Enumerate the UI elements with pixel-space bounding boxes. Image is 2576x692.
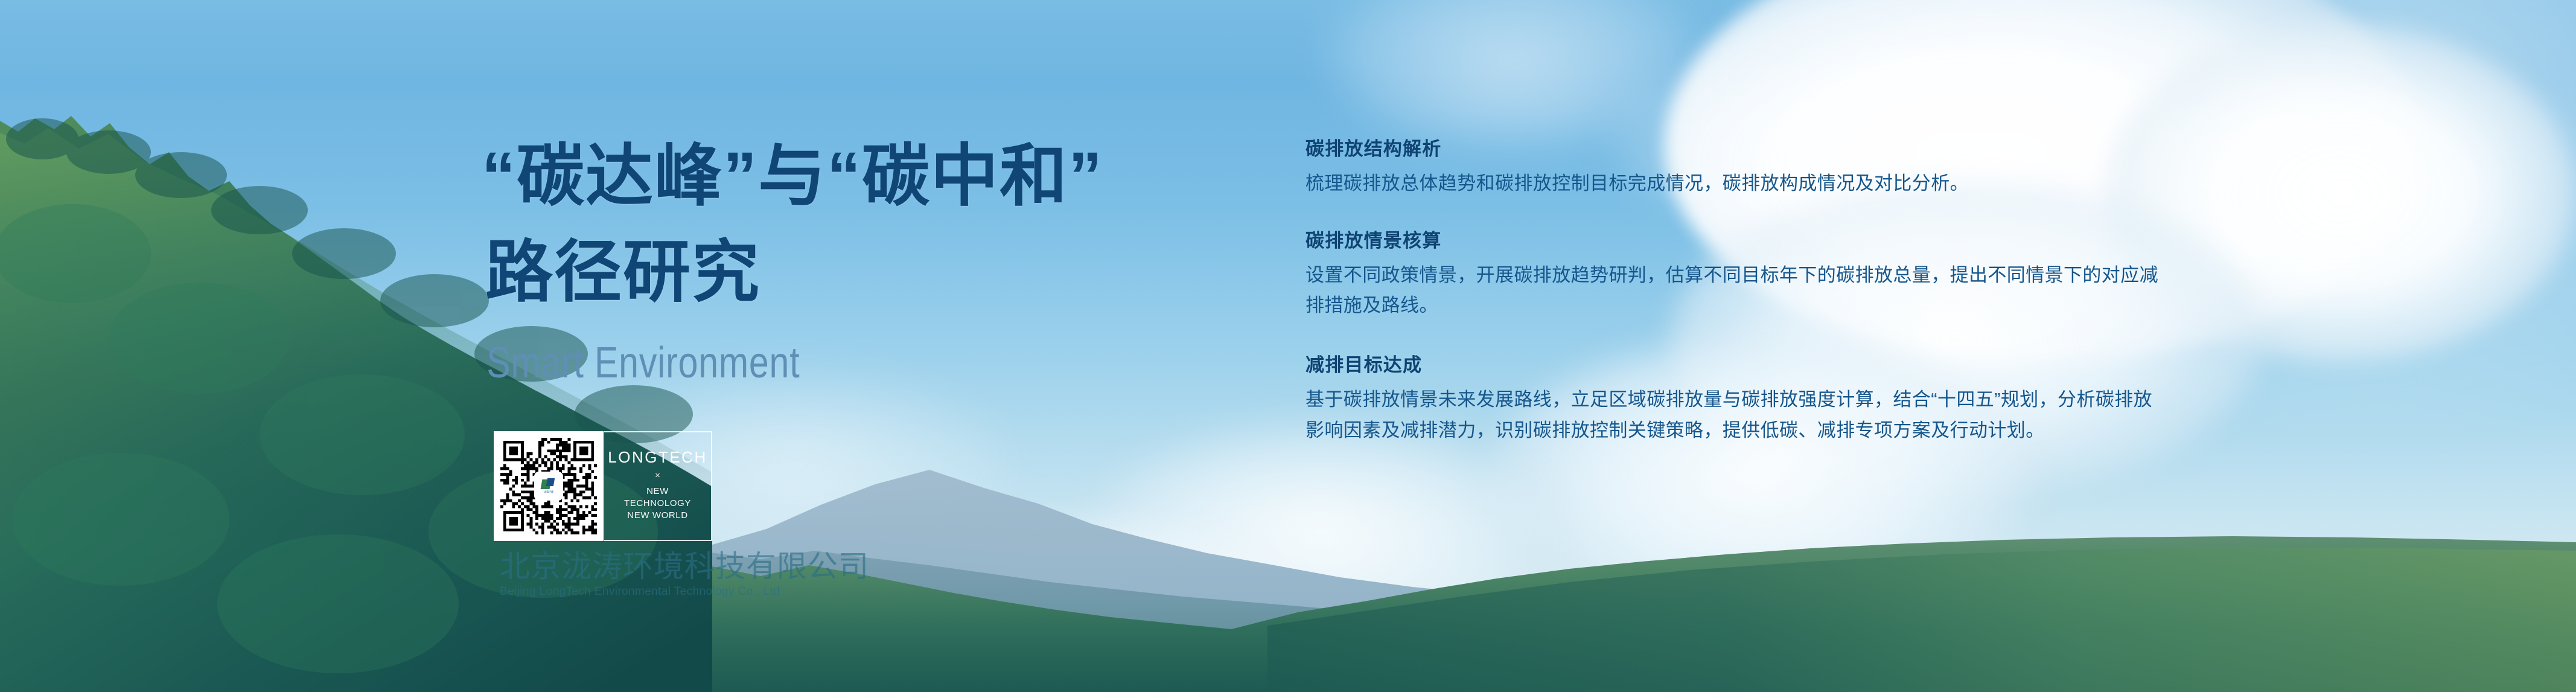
longtech-tagline: NEWTECHNOLOGYNEW WORLD [624,485,691,522]
feature-body-scenario: 设置不同政策情景，开展碳排放趋势研判，估算不同目标年下的碳排放总量，提出不同情景… [1306,260,2169,321]
hero-title-line-2: 路径研究 [482,224,1206,320]
qr-code[interactable]: 泷涛环境 [494,431,604,541]
longtech-slogan-box: LONGTECH × NEWTECHNOLOGYNEW WORLD [604,431,712,541]
feature-body-structure: 梳理碳排放总体趋势和碳排放控制目标完成情况，碳排放构成情况及对比分析。 [1306,168,2169,199]
feature-sections: 碳排放结构解析 梳理碳排放总体趋势和碳排放控制目标完成情况，碳排放构成情况及对比… [1306,138,2169,446]
feature-heading-scenario: 碳排放情景核算 [1306,229,2169,252]
brand-qr-block: 泷涛环境 LONGTECH × NEWTECHNOLOGYNEW WORLD [494,431,712,541]
feature-body-target: 基于碳排放情景未来发展路线，立足区域碳排放量与碳排放强度计算，结合“十四五”规划… [1306,385,2169,446]
banner-hero: “碳达峰”与“碳中和” 路径研究 Smart Environment 泷涛环境 … [0,0,2576,692]
longtech-divider-icon: × [655,470,660,481]
hero-title-line-1: “碳达峰”与“碳中和” [482,128,1206,224]
feature-section-structure: 碳排放结构解析 梳理碳排放总体趋势和碳排放控制目标完成情况，碳排放构成情况及对比… [1306,138,2169,199]
feature-heading-structure: 碳排放结构解析 [1306,138,2169,160]
qr-center-logo: 泷涛环境 [535,472,563,500]
hero-subtitle: Smart Environment [482,338,1076,388]
feature-heading-target: 减排目标达成 [1306,354,2169,376]
longtech-brand-name: LONGTECH [608,449,707,465]
feature-section-target: 减排目标达成 基于碳排放情景未来发展路线，立足区域碳排放量与碳排放强度计算，结合… [1306,354,2169,446]
longtech-logo-mark [541,478,556,490]
qr-logo-caption: 泷涛环境 [544,491,553,494]
feature-section-scenario: 碳排放情景核算 设置不同政策情景，开展碳排放趋势研判，估算不同目标年下的碳排放总… [1306,229,2169,321]
hero-title-block: “碳达峰”与“碳中和” 路径研究 Smart Environment [482,128,1206,388]
